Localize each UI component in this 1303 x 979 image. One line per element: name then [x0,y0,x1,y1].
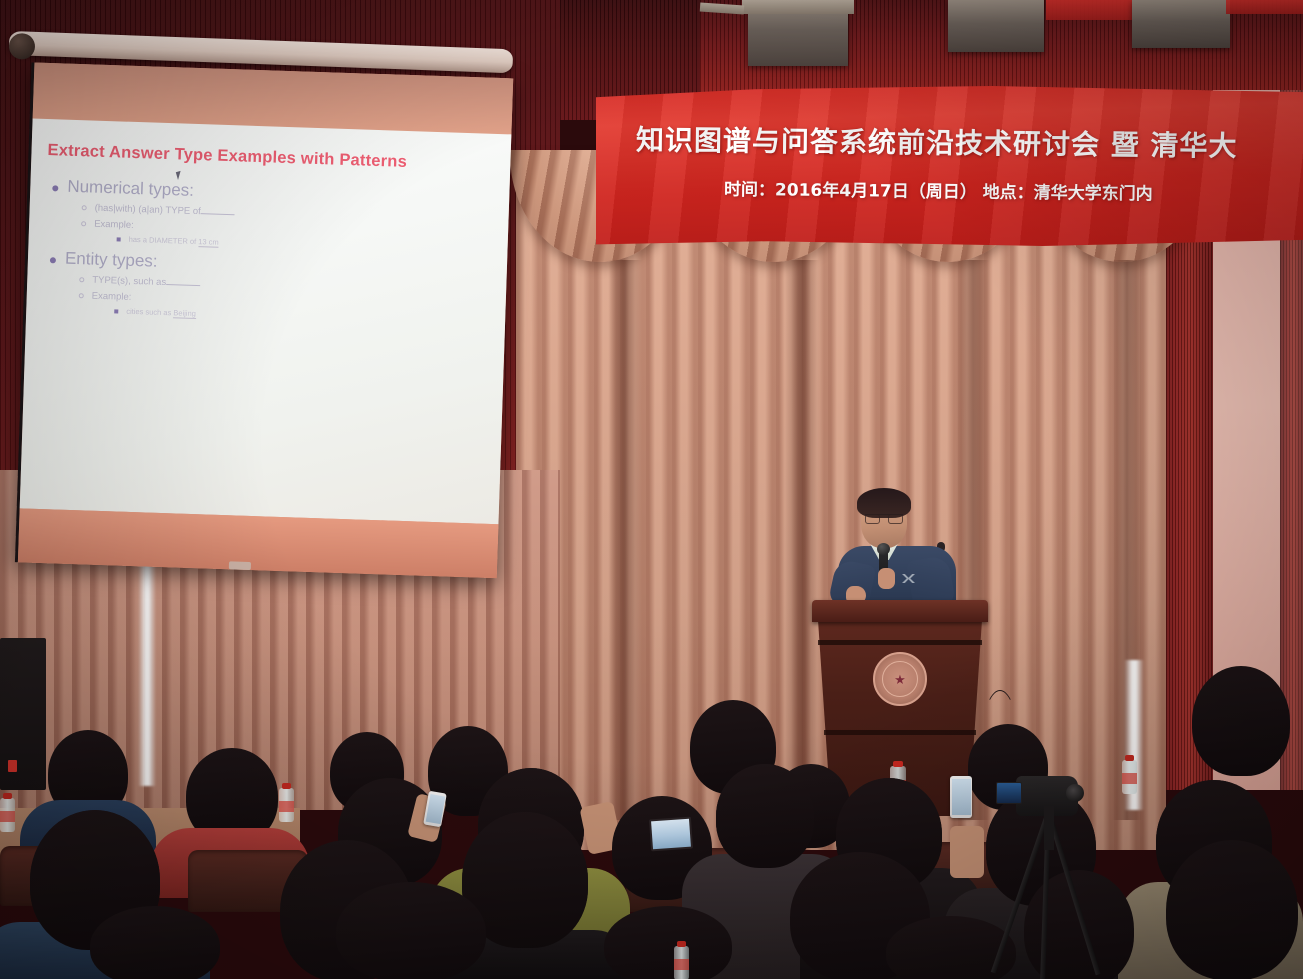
tsinghua-university-emblem-icon: ★ [873,652,927,706]
bullet-dot-icon [50,257,56,263]
smartphone[interactable] [950,776,972,818]
audience-head [1192,666,1290,776]
slide-blank-fill [166,284,200,286]
bullet-square-icon [114,309,118,313]
bottle-cap [3,793,12,799]
slide-leaf-underlined: 13 cm [198,237,219,248]
bottle-label [674,959,689,970]
bullet-dot-icon [52,185,58,191]
slide-subbullet-label: Example: [94,219,134,231]
projection-screen-assembly: Extract Answer Type Examples with Patter… [3,17,529,575]
ceiling-strip-1 [742,0,854,14]
lectern-top-surface [812,600,988,622]
slide-leaf-label: cities such as [126,307,171,317]
phone-screen [952,779,971,815]
audience-head [604,906,732,979]
slide-blank-fill [201,213,235,215]
bottle-cap [282,783,291,789]
slide-bullet-label: Numerical types: [67,177,194,201]
slide-title: Extract Answer Type Examples with Patter… [47,141,494,175]
screen-roller-end-cap [9,33,36,60]
phone-screen [425,794,445,824]
lectern-groove-1 [818,640,982,645]
ceiling-light-2 [1226,0,1303,14]
emblem-inner-ring: ★ [882,661,918,697]
presenter [826,488,971,613]
bullet-square-icon [117,237,121,241]
slide-leaf-label: has a DIAMETER of [129,235,197,246]
audience-hand-holding-phone [950,826,984,878]
water-bottle [279,788,294,822]
bottle-label [0,811,15,822]
presenter-eyeglasses [865,514,903,522]
camcorder-lens-icon [1066,784,1084,802]
ceiling-panel-3 [1132,0,1230,48]
audience-head [90,906,220,979]
bottle-cap [677,941,686,947]
bottle-label [279,801,294,812]
slide-subbullet-label: (has|with) (a|an) TYPE of [94,203,200,218]
projection-screen: Extract Answer Type Examples with Patter… [15,62,513,578]
audience-head [716,764,814,868]
mouse-cursor-icon [176,171,183,180]
bullet-ring-icon [79,277,84,282]
slide-bullet-label: Entity types: [65,249,158,272]
tripod-center-column [1044,806,1054,850]
conference-hall-photo: Extract Answer Type Examples with Patter… [0,0,1303,979]
bullet-ring-icon [82,205,87,210]
banner-title: 知识图谱与问答系统前沿技术研讨会 暨 清华大 [636,118,1303,165]
emblem-star-icon: ★ [894,673,906,686]
ceiling-light-1 [1046,0,1132,20]
water-bottle [674,946,689,979]
audience-head [1166,840,1298,979]
banner-datetime-location: 时间：2016年4月17日（周日） 地点：清华大学东门内 [724,175,1303,206]
bottle-cap [1125,755,1134,761]
camcorder-lcd-screen [996,782,1022,804]
laptop-screen [651,819,691,850]
conference-banner: 知识图谱与问答系统前沿技术研讨会 暨 清华大 时间：2016年4月17日（周日）… [596,86,1303,246]
projected-slide: Extract Answer Type Examples with Patter… [20,119,512,525]
slide-subbullet-label: Example: [92,291,132,303]
water-bottle [1122,760,1137,794]
ceiling-panel-2 [948,0,1044,52]
bottle-label [1122,773,1137,784]
presenter-right-hand [878,568,895,589]
slide-leaf-underlined: Beijing [173,308,196,319]
bullet-ring-icon [81,221,86,226]
open-laptop[interactable] [649,817,693,852]
bullet-ring-icon [79,293,84,298]
slide-subbullet-label: TYPE(s), such as [92,275,166,288]
screen-bottom-weight [229,561,251,570]
water-bottle [0,798,15,832]
audience-head [336,882,486,979]
